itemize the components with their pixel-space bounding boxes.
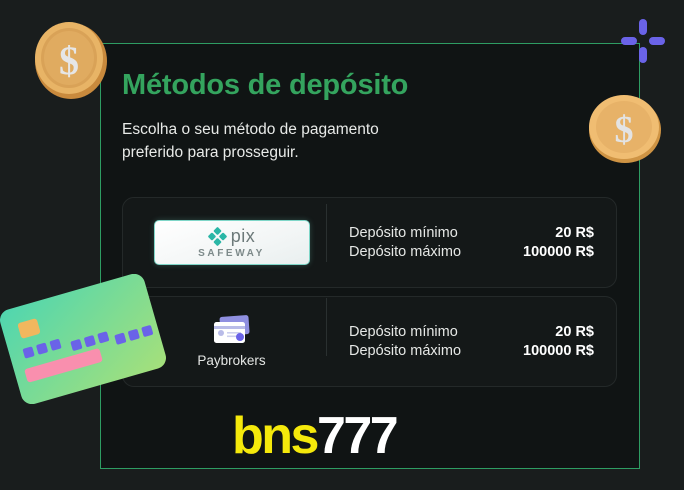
max-deposit-label: Depósito máximo [349, 343, 461, 359]
min-deposit-label: Depósito mínimo [349, 324, 458, 340]
payment-method-figures-pix: Depósito mínimo 20 R$ Depósito máximo 10… [324, 225, 594, 260]
pix-safeway-label: SAFEWAY [198, 248, 265, 259]
figure-line: Depósito mínimo 20 R$ [349, 225, 594, 241]
brandmark-primary: bns [232, 407, 317, 465]
deposit-panel: Métodos de depósito Escolha o seu método… [100, 43, 640, 469]
payment-method-brand-pix: pix SAFEWAY [139, 220, 324, 265]
gold-coin-icon: $ [31, 17, 111, 101]
max-deposit-value: 100000 R$ [523, 244, 594, 260]
payment-method-brand-paybrokers: Paybrokers [139, 314, 324, 368]
min-deposit-value: 20 R$ [555, 324, 594, 340]
page-title: Métodos de depósito [122, 70, 617, 102]
bns777-logo: bns777 [232, 410, 396, 462]
max-deposit-label: Depósito máximo [349, 244, 461, 260]
bank-cards-icon [211, 314, 253, 346]
paybrokers-label: Paybrokers [197, 353, 265, 368]
payment-method-figures-paybrokers: Depósito mínimo 20 R$ Depósito máximo 10… [324, 324, 594, 359]
min-deposit-value: 20 R$ [555, 225, 594, 241]
max-deposit-value: 100000 R$ [523, 343, 594, 359]
page-subtitle: Escolha o seu método de pagamento prefer… [122, 118, 432, 165]
payment-method-list: pix SAFEWAY Depósito mínimo 20 R$ Depósi… [122, 197, 617, 387]
payment-method-row-pix[interactable]: pix SAFEWAY Depósito mínimo 20 R$ Depósi… [122, 197, 617, 288]
pix-diamond-icon [208, 227, 227, 246]
figure-line: Depósito mínimo 20 R$ [349, 324, 594, 340]
svg-text:$: $ [59, 38, 79, 83]
pix-wordmark: pix [231, 227, 256, 245]
payment-method-row-paybrokers[interactable]: Paybrokers Depósito mínimo 20 R$ Depósit… [122, 296, 617, 387]
pix-logo: pix SAFEWAY [154, 220, 310, 265]
min-deposit-label: Depósito mínimo [349, 225, 458, 241]
figure-line: Depósito máximo 100000 R$ [349, 244, 594, 260]
brandmark-secondary: 777 [317, 407, 396, 465]
figure-line: Depósito máximo 100000 R$ [349, 343, 594, 359]
